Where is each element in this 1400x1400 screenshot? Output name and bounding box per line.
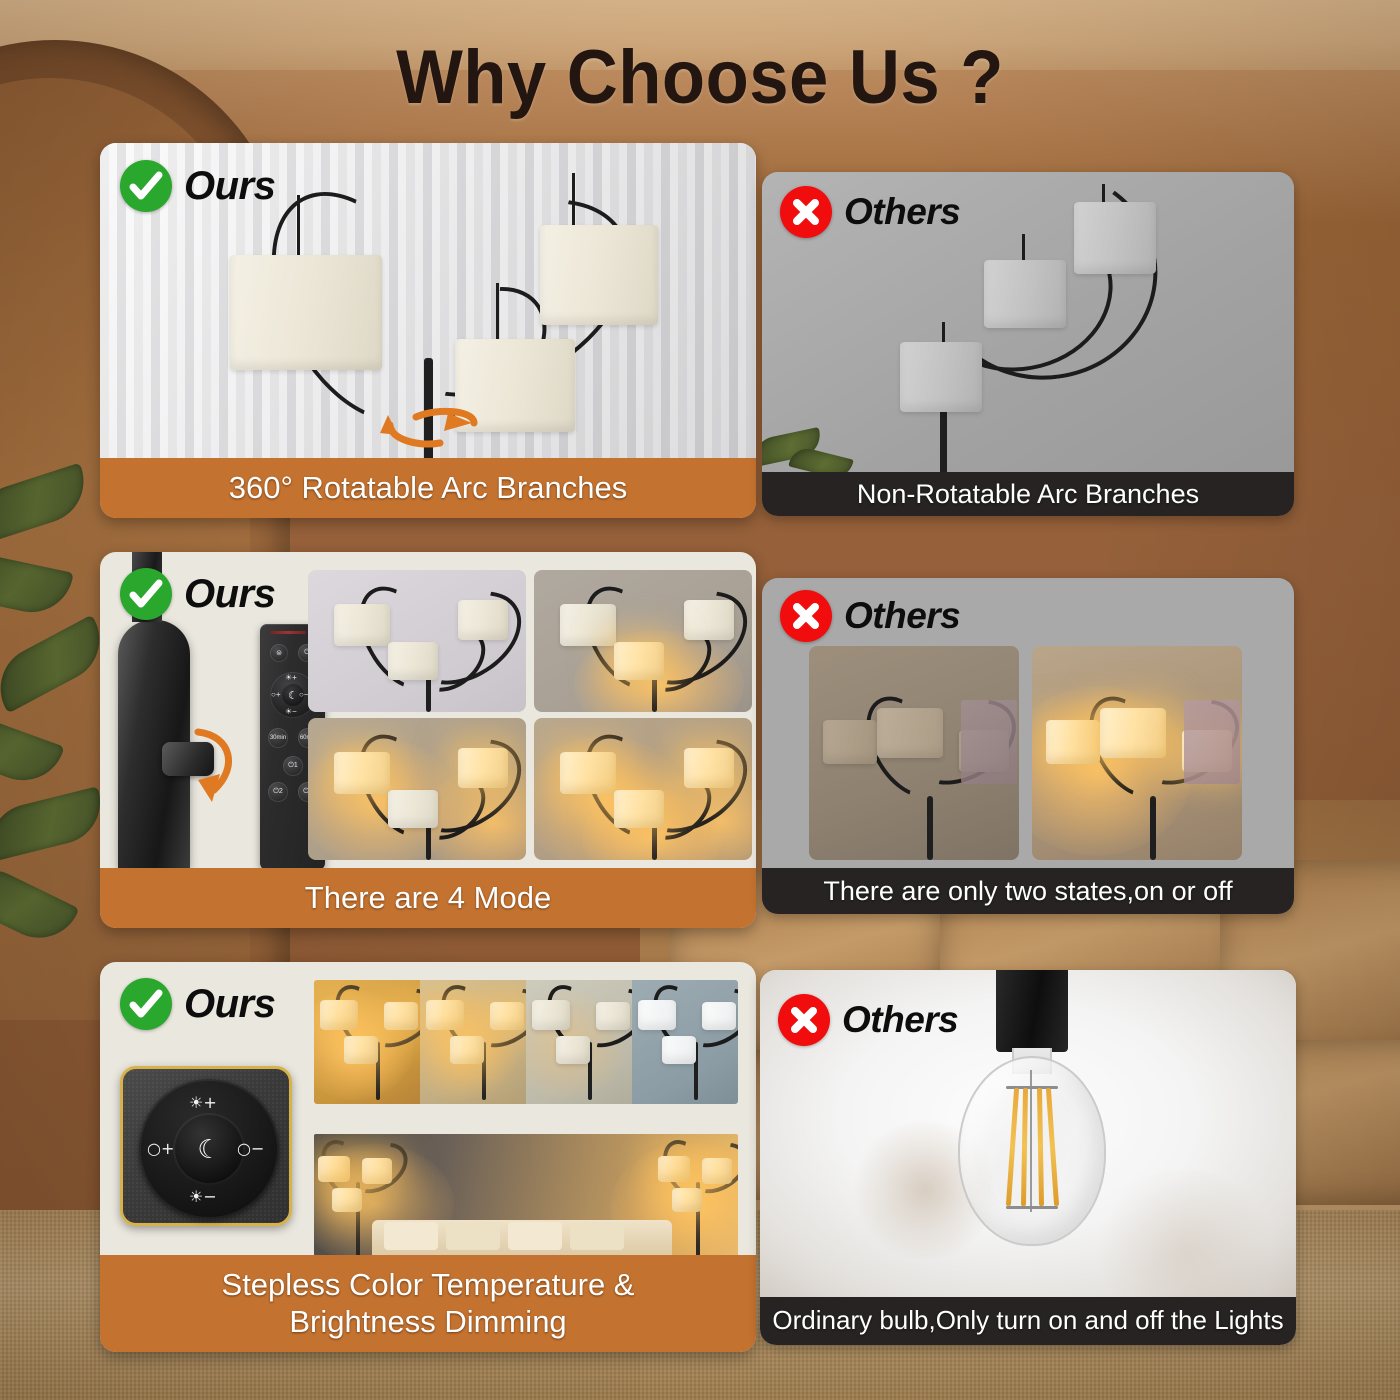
- cross-circle-icon: [778, 994, 830, 1046]
- living-room-photo: [314, 1134, 738, 1255]
- brightness-up-label: ☀+: [285, 673, 297, 682]
- color-temp-4500k: [526, 980, 632, 1104]
- moon-stars-icon[interactable]: ☾: [173, 1113, 245, 1185]
- mode-button[interactable]: ⊜: [270, 644, 288, 662]
- panel-others-two-states: Others There are only two states,on or o…: [762, 578, 1294, 914]
- panel-others-ordinary-bulb: Others Ordinary bulb,Only turn on and of…: [760, 970, 1296, 1345]
- ours-label: Ours: [184, 982, 275, 1027]
- mode-three-lights: [534, 718, 752, 860]
- mode-two-lights: [308, 718, 526, 860]
- other-lamp-shade-top: [1074, 202, 1156, 274]
- bulb-glass: [958, 1056, 1106, 1246]
- check-circle-icon: [120, 160, 172, 212]
- others-label: Others: [842, 999, 958, 1041]
- brightness-up-label: ☀+: [189, 1093, 217, 1112]
- warm-down-label: ○−: [237, 1139, 264, 1158]
- lamp-drop-center: [496, 283, 499, 343]
- other-lamp-drop-3: [942, 322, 945, 344]
- others-badge-row-3: Others: [778, 994, 958, 1046]
- check-circle-icon: [120, 568, 172, 620]
- color-temp-3500k: [420, 980, 526, 1104]
- bulb-socket: [996, 970, 1068, 1052]
- ours-badge-row-2: Ours: [120, 568, 275, 620]
- mode-one-light: [534, 570, 752, 712]
- ours-label: Ours: [184, 572, 275, 617]
- lamp-drop-right: [572, 173, 575, 229]
- light-2-button[interactable]: ⏻2: [268, 782, 288, 802]
- others-badge-row-1: Others: [780, 186, 960, 238]
- lamp-shade-right: [540, 225, 658, 325]
- panel-ours-rotatable: Ours 360° Rotatable Arc Branches: [100, 143, 756, 518]
- ours-label: Ours: [184, 164, 275, 209]
- rotation-arrow-icon: [378, 405, 488, 453]
- cross-circle-icon: [780, 590, 832, 642]
- brightness-down-label: ☀−: [285, 707, 297, 716]
- panel-ours-four-modes: ⊜ ⏻ ☾ ☀+ ○+ ○− ☀− 30min 60min ⏻1 ⏻2 ⏻3: [100, 552, 756, 928]
- color-temperature-strip: [314, 980, 738, 1104]
- others-label: Others: [844, 595, 960, 637]
- others-badge-row-2: Others: [780, 590, 960, 642]
- others-caption-3: Ordinary bulb,Only turn on and off the L…: [760, 1297, 1296, 1345]
- others-caption-1: Non-Rotatable Arc Branches: [762, 472, 1294, 516]
- lamp-drop-left: [297, 195, 300, 259]
- brightness-down-label: ☀−: [189, 1187, 217, 1206]
- light-1-button[interactable]: ⏻1: [283, 756, 303, 776]
- ours-badge-row-3: Ours: [120, 978, 275, 1030]
- color-temp-2700k: [314, 980, 420, 1104]
- ours-caption-2: There are 4 Mode: [100, 868, 756, 928]
- warm-up-label: ○+: [147, 1139, 174, 1158]
- ours-caption-3-line1: Stepless Color Temperature &: [222, 1268, 635, 1303]
- ours-caption-3: Stepless Color Temperature & Brightness …: [100, 1255, 756, 1352]
- other-lamp-shade-mid: [984, 260, 1066, 328]
- others-label: Others: [844, 191, 960, 233]
- color-temp-6000k: [632, 980, 738, 1104]
- others-caption-2: There are only two states,on or off: [762, 868, 1294, 914]
- page-title: Why Choose Us ?: [49, 34, 1351, 121]
- ours-caption-1: 360° Rotatable Arc Branches: [100, 458, 756, 518]
- ours-badge-row-1: Ours: [120, 160, 275, 212]
- mode-all-off: [308, 570, 526, 712]
- ours-caption-3-line2: Brightness Dimming: [289, 1305, 566, 1340]
- knob-rotation-arrow-icon: [188, 724, 246, 808]
- warm-up-label: ○+: [271, 690, 281, 699]
- cross-circle-icon: [780, 186, 832, 238]
- panel-ours-dimming: ☾ ☀+ ○+ ○− ☀−: [100, 962, 756, 1352]
- lamp-shade-left: [230, 255, 382, 370]
- other-lamp-shade-bottom: [900, 342, 982, 412]
- panel-others-nonrotatable: Others Non-Rotatable Arc Branches: [762, 172, 1294, 516]
- state-on: [1032, 646, 1242, 860]
- dimmer-control-pad[interactable]: ☾ ☀+ ○+ ○− ☀−: [120, 1066, 292, 1226]
- timer-30min-button[interactable]: 30min: [268, 728, 288, 748]
- check-circle-icon: [120, 978, 172, 1030]
- state-off: [809, 646, 1019, 860]
